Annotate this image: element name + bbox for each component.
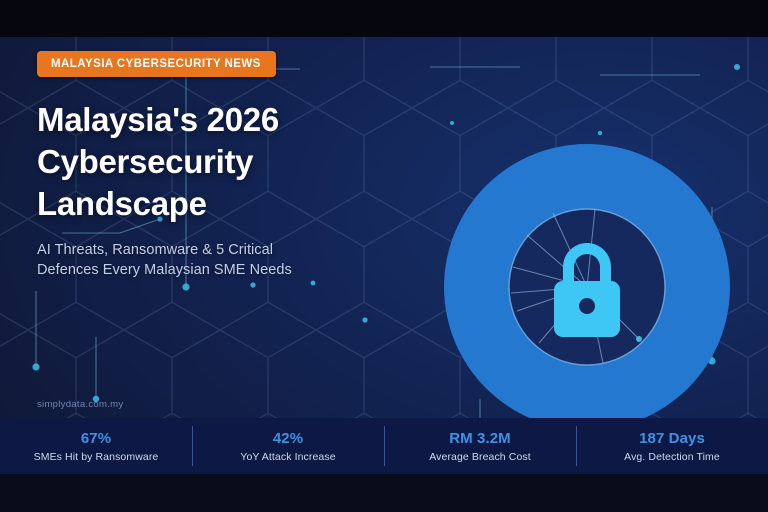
- subtitle-line: AI Threats, Ransomware & 5 Critical: [37, 240, 437, 261]
- news-category-badge: MALAYSIA CYBERSECURITY NEWS: [37, 51, 276, 77]
- stat-label: Avg. Detection Time: [624, 451, 720, 463]
- subtitle-line: Defences Every Malaysian SME Needs: [37, 260, 437, 281]
- page-subtitle: AI Threats, Ransomware & 5 Critical Defe…: [37, 240, 437, 281]
- cybersecurity-hero-banner: MALAYSIA CYBERSECURITY NEWS Malaysia's 2…: [0, 0, 768, 512]
- page-title: Malaysia's 2026 Cybersecurity Landscape: [37, 99, 437, 225]
- hero-text-column: MALAYSIA CYBERSECURITY NEWS Malaysia's 2…: [37, 51, 437, 281]
- stat-item: 187 Days Avg. Detection Time: [576, 418, 768, 474]
- title-line: Malaysia's 2026: [37, 99, 437, 141]
- stat-label: Average Breach Cost: [429, 451, 531, 463]
- title-line: Landscape: [37, 183, 437, 225]
- stat-item: 42% YoY Attack Increase: [192, 418, 384, 474]
- stat-value: 187 Days: [639, 430, 705, 447]
- stat-label: YoY Attack Increase: [240, 451, 335, 463]
- title-line: Cybersecurity: [37, 141, 437, 183]
- site-url-tag: simplydata.com.my: [37, 399, 123, 410]
- stat-label: SMEs Hit by Ransomware: [34, 451, 159, 463]
- stat-value: RM 3.2M: [449, 430, 511, 447]
- stat-item: 67% SMEs Hit by Ransomware: [0, 418, 192, 474]
- padlock-emblem: [443, 143, 731, 418]
- stat-item: RM 3.2M Average Breach Cost: [384, 418, 576, 474]
- stat-value: 42%: [273, 430, 303, 447]
- letterbox-bottom: [0, 474, 768, 512]
- letterbox-top: [0, 0, 768, 37]
- key-statistics-bar: 67% SMEs Hit by Ransomware 42% YoY Attac…: [0, 418, 768, 474]
- stat-value: 67%: [81, 430, 111, 447]
